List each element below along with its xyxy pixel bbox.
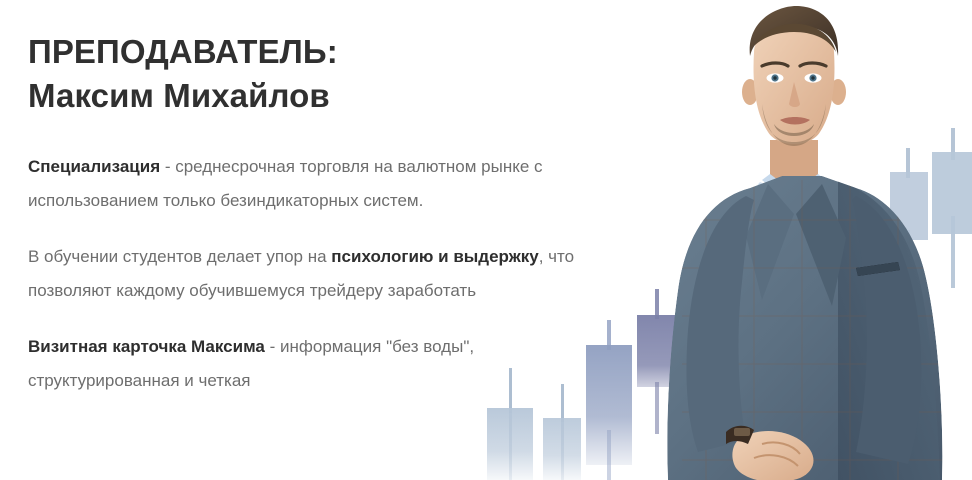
paragraph-specialization-lead: Специализация bbox=[28, 157, 160, 176]
trousers bbox=[674, 393, 938, 480]
page-title: ПРЕПОДАВАТЕЛЬ: Максим Михайлов bbox=[28, 30, 640, 118]
paragraph-business-card: Визитная карточка Максима - информация "… bbox=[28, 330, 628, 398]
teacher-hero-banner: ПРЕПОДАВАТЕЛЬ: Максим Михайлов Специализ… bbox=[0, 0, 972, 480]
paragraph-psychology-strong: психологию и выдержку bbox=[331, 247, 538, 266]
head bbox=[742, 6, 846, 146]
candle-4 bbox=[637, 289, 677, 434]
page-title-line-2: Максим Михайлов bbox=[28, 74, 640, 118]
page-title-line-1: ПРЕПОДАВАТЕЛЬ: bbox=[28, 30, 640, 74]
neck bbox=[770, 140, 818, 205]
blazer bbox=[667, 176, 942, 480]
candle-7 bbox=[890, 148, 928, 292]
avatar bbox=[642, 0, 972, 480]
paragraph-specialization: Специализация - среднесрочная торговля н… bbox=[28, 150, 628, 218]
description-list: Специализация - среднесрочная торговля н… bbox=[28, 150, 640, 398]
candle-2 bbox=[543, 384, 581, 480]
candle-5 bbox=[685, 305, 721, 372]
shirt bbox=[742, 174, 843, 420]
paragraph-psychology: В обучении студентов делает упор на псих… bbox=[28, 240, 628, 308]
belt bbox=[748, 404, 840, 419]
paragraph-psychology-pre: В обучении студентов делает упор на bbox=[28, 247, 331, 266]
candle-8 bbox=[932, 128, 972, 288]
candle-6 bbox=[727, 296, 766, 392]
hands bbox=[726, 426, 814, 480]
paragraph-business-card-lead: Визитная карточка Максима bbox=[28, 337, 265, 356]
hero-text-content: ПРЕПОДАВАТЕЛЬ: Максим Михайлов Специализ… bbox=[0, 0, 640, 398]
